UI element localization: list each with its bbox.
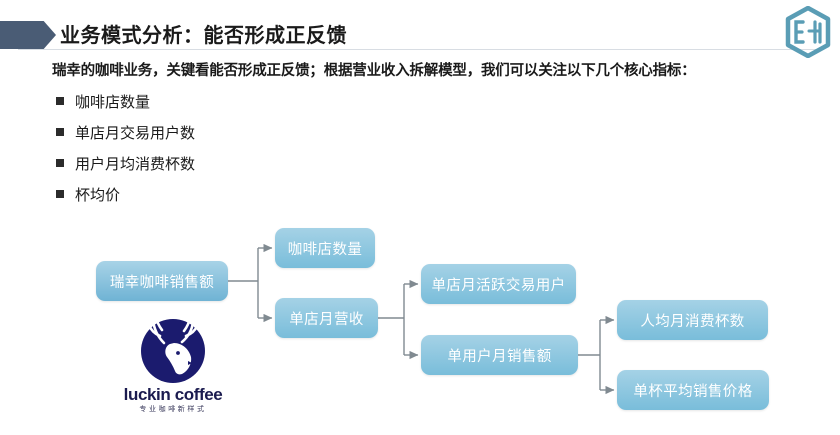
diagram-node-active-users[interactable]: 单店月活跃交易用户	[421, 264, 576, 304]
corporate-logo	[784, 6, 832, 58]
subtitle-text: 瑞幸的咖啡业务，关键看能否形成正反馈；根据营业收入拆解模型，我们可以关注以下几个…	[52, 59, 696, 80]
slide-canvas: 业务模式分析：能否形成正反馈 瑞幸的咖啡业务，关键看能否形成正反馈；根据营业收入…	[0, 0, 840, 435]
diagram-node-root[interactable]: 瑞幸咖啡销售额	[96, 261, 228, 301]
list-item-label: 杯均价	[75, 184, 120, 205]
diagram-node-user-revenue[interactable]: 单用户月销售额	[421, 335, 578, 375]
square-bullet-icon	[56, 159, 64, 167]
list-item-label: 单店月交易用户数	[75, 122, 195, 143]
square-bullet-icon	[56, 190, 64, 198]
page-title: 业务模式分析：能否形成正反馈	[60, 19, 347, 48]
list-item: 杯均价	[56, 181, 476, 207]
luckin-tagline: 专业咖啡新样式	[112, 404, 234, 414]
title-accent-arrow-icon	[0, 21, 56, 49]
luckin-deer-logo-icon	[112, 303, 234, 387]
diagram-node-store-revenue[interactable]: 单店月营收	[275, 298, 378, 338]
title-divider	[18, 49, 822, 50]
list-item: 单店月交易用户数	[56, 119, 476, 145]
list-item-label: 用户月均消费杯数	[75, 153, 195, 174]
key-metrics-list: 咖啡店数量 单店月交易用户数 用户月均消费杯数 杯均价	[56, 88, 476, 212]
list-item: 用户月均消费杯数	[56, 150, 476, 176]
square-bullet-icon	[56, 128, 64, 136]
diagram-node-cups-per-user[interactable]: 人均月消费杯数	[617, 300, 768, 340]
hexagon-monogram-logo-icon	[784, 6, 832, 58]
diagram-node-avg-price[interactable]: 单杯平均销售价格	[617, 370, 769, 410]
square-bullet-icon	[56, 97, 64, 105]
luckin-wordmark: luckin coffee	[112, 385, 234, 405]
list-item: 咖啡店数量	[56, 88, 476, 114]
list-item-label: 咖啡店数量	[75, 91, 150, 112]
diagram-node-stores[interactable]: 咖啡店数量	[275, 228, 375, 268]
luckin-coffee-logo: luckin coffee 专业咖啡新样式	[112, 303, 234, 421]
